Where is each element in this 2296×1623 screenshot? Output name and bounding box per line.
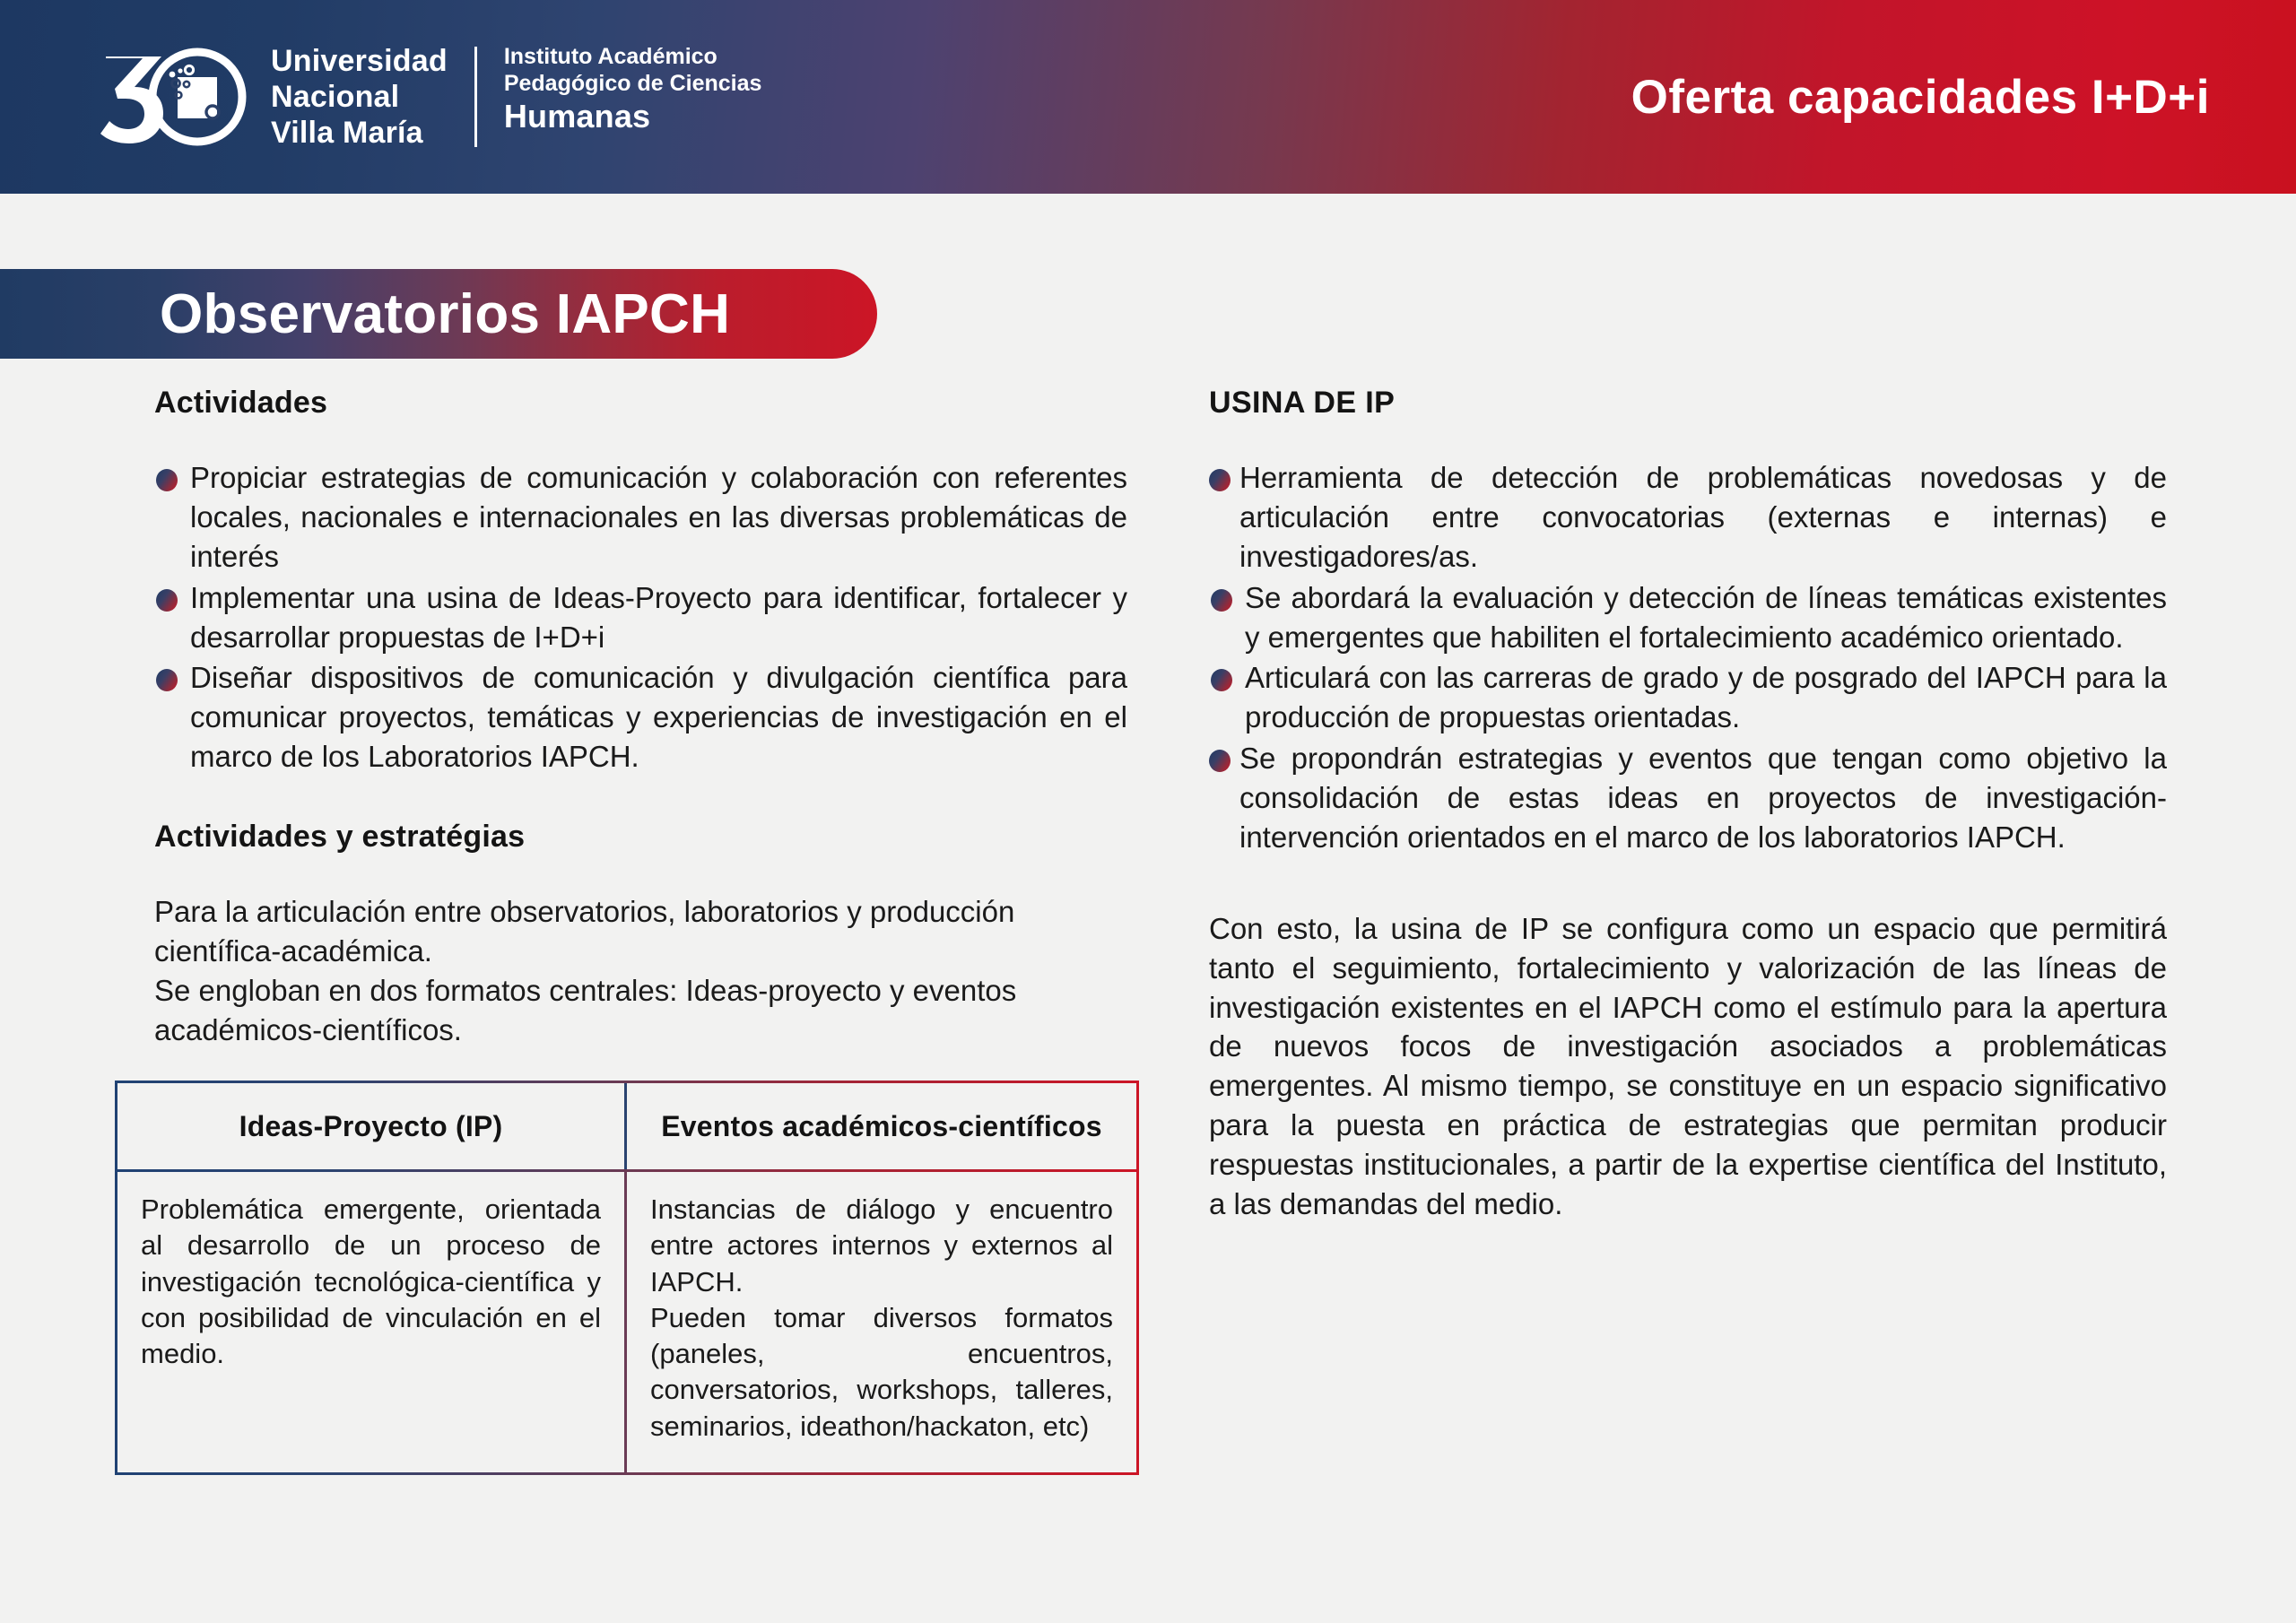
table-header-row: Ideas-Proyecto (IP) Eventos académicos-c…	[117, 1083, 1136, 1169]
university-line-2: Nacional	[271, 79, 448, 115]
header-title: Oferta capacidades I+D+i	[1631, 70, 2210, 125]
table-cell-eventos: Instancias de diálogo y encuentro entre …	[627, 1172, 1136, 1472]
left-column: Actividades Propiciar estrategias de com…	[154, 386, 1127, 1050]
usina-list: Herramienta de detección de problemática…	[1209, 458, 2167, 857]
slide-page: Universidad Nacional Villa María Institu…	[0, 0, 2296, 1623]
list-item: Propiciar estrategias de comunicación y …	[154, 458, 1127, 577]
usina-heading: USINA DE IP	[1209, 386, 2167, 421]
section-title-banner: Observatorios IAPCH	[0, 269, 877, 359]
institute-line-1: Instituto Académico	[504, 43, 762, 70]
list-item: Articulará con las carreras de grado y d…	[1209, 658, 2167, 737]
institute-line-2: Pedagógico de Ciencias	[504, 70, 762, 97]
unvm-30-anniversary-logo-icon	[100, 44, 251, 150]
spacer	[1209, 859, 2167, 909]
brand-text-block: Universidad Nacional Villa María Institu…	[271, 43, 761, 151]
university-line-1: Universidad	[271, 43, 448, 79]
table-row: Problemática emergente, orientada al des…	[117, 1172, 1136, 1472]
activities-list: Propiciar estrategias de comunicación y …	[154, 458, 1127, 777]
table-column-header-eventos: Eventos académicos-científicos	[627, 1083, 1136, 1169]
table-column-header-ideas-proyecto: Ideas-Proyecto (IP)	[117, 1083, 627, 1169]
list-item: Implementar una usina de Ideas-Proyecto …	[154, 578, 1127, 657]
strategies-paragraph-1: Para la articulación entre observatorios…	[154, 892, 1127, 971]
page-header: Universidad Nacional Villa María Institu…	[0, 0, 2296, 194]
strategies-heading: Actividades y estratégias	[154, 820, 1127, 855]
list-item: Se propondrán estrategias y eventos que …	[1209, 739, 2167, 857]
activities-heading: Actividades	[154, 386, 1127, 421]
list-item: Diseñar dispositivos de comunicación y d…	[154, 658, 1127, 777]
usina-closing-paragraph: Con esto, la usina de IP se configura co…	[1209, 909, 2167, 1224]
right-column: USINA DE IP Herramienta de detección de …	[1209, 386, 2167, 1224]
formats-table: Ideas-Proyecto (IP) Eventos académicos-c…	[115, 1081, 1139, 1475]
brand-lockup: Universidad Nacional Villa María Institu…	[100, 43, 761, 151]
institute-line-3: Humanas	[504, 97, 762, 135]
university-name: Universidad Nacional Villa María	[271, 43, 474, 151]
institute-name: Instituto Académico Pedagógico de Cienci…	[477, 43, 762, 151]
university-line-3: Villa María	[271, 115, 448, 151]
list-item: Se abordará la evaluación y detección de…	[1209, 578, 2167, 657]
page-title: Observatorios IAPCH	[160, 282, 730, 346]
formats-table-inner: Ideas-Proyecto (IP) Eventos académicos-c…	[117, 1083, 1136, 1472]
list-item: Herramienta de detección de problemática…	[1209, 458, 2167, 577]
strategies-paragraph-2: Se engloban en dos formatos centrales: I…	[154, 971, 1127, 1050]
table-cell-ideas-proyecto: Problemática emergente, orientada al des…	[117, 1172, 627, 1472]
spacer	[154, 778, 1127, 820]
